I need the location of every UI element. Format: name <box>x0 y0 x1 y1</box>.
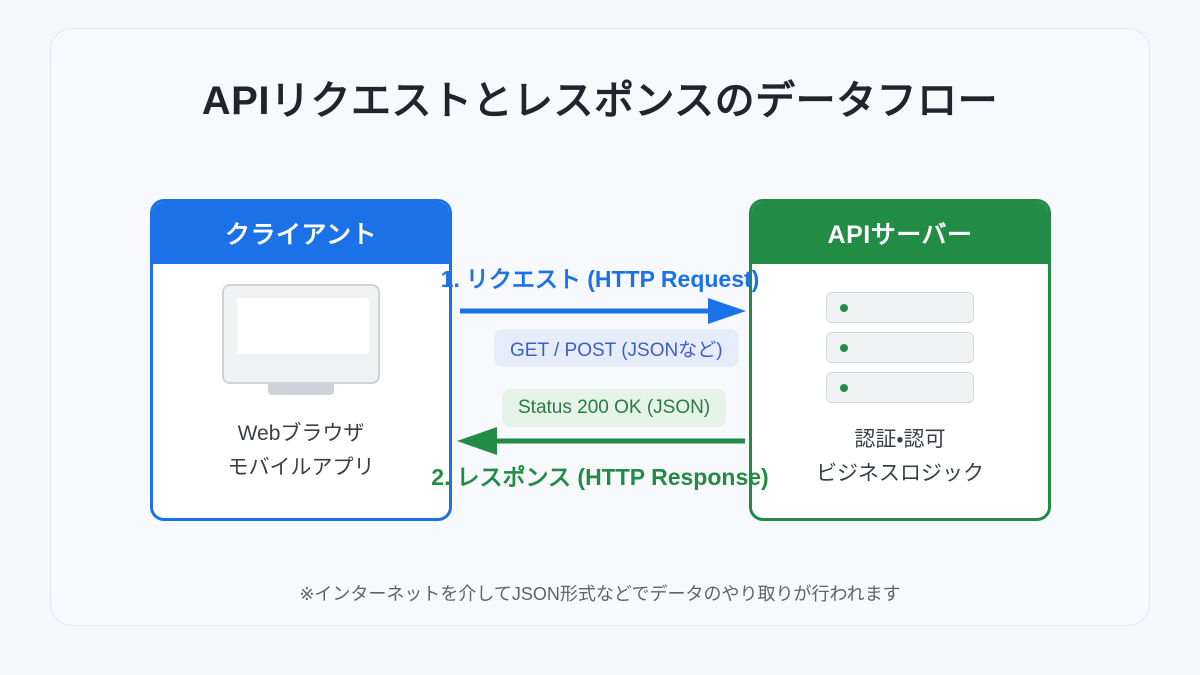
server-rack-slot <box>826 372 974 403</box>
status-led-icon <box>840 304 848 312</box>
monitor-screen <box>237 298 369 354</box>
flow-label-request-text: リクエスト (HTTP Request) <box>466 266 759 292</box>
flow-label-response-text: レスポンス (HTTP Response) <box>456 464 768 490</box>
monitor-stand <box>268 384 334 395</box>
server-rack-slot <box>826 292 974 323</box>
monitor-icon <box>222 284 380 397</box>
monitor-frame <box>222 284 380 384</box>
status-led-icon <box>840 344 848 352</box>
flow-label-request: 1.リクエスト (HTTP Request) <box>0 260 1200 294</box>
badge-request-method: GET / POST (JSONなど) <box>494 329 739 367</box>
node-server-caption-line-1: 認証・認可 <box>816 423 984 457</box>
page-title: APIリクエストとレスポンスのデータフロー <box>0 68 1200 126</box>
arrow-response-icon <box>455 426 747 456</box>
server-rack-slot <box>826 332 974 363</box>
footer-note: ※インターネットを介してJSON形式などでデータのやり取りが行われます <box>0 580 1200 606</box>
arrow-request-icon <box>458 296 748 326</box>
flow-step-number-response: 2. <box>431 464 450 490</box>
flow-step-number-request: 1. <box>441 266 460 292</box>
status-led-icon <box>840 384 848 392</box>
server-rack-icon <box>826 292 974 403</box>
node-server-header: APIサーバー <box>752 202 1048 264</box>
diagram-canvas: APIリクエストとレスポンスのデータフロー クライアント Webブラウザ モバイ… <box>0 0 1200 675</box>
node-client-header: クライアント <box>153 202 449 264</box>
node-client-caption-line-1: Webブラウザ <box>228 417 375 451</box>
flow-label-response: 2.レスポンス (HTTP Response) <box>0 458 1200 492</box>
badge-response-status: Status 200 OK (JSON) <box>502 389 726 427</box>
